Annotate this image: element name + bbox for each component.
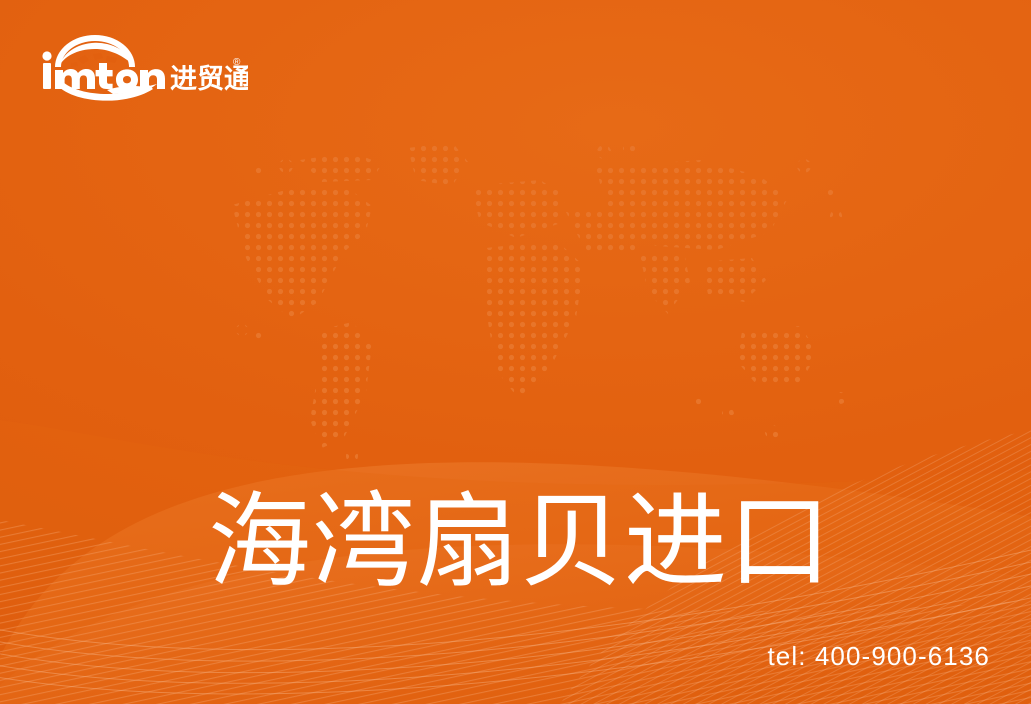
globe-arc-icon: [55, 35, 135, 67]
promo-banner: 进贸通 ® 海湾扇贝进口 清关代理公司 tel: 400-900-6136: [0, 0, 1031, 704]
brand-logo-mark: 进贸通 ®: [33, 27, 248, 105]
brand-logo[interactable]: 进贸通 ®: [33, 27, 248, 105]
brand-chinese-text: 进贸通: [170, 64, 248, 95]
registered-trademark-icon: ®: [233, 57, 241, 68]
page-title-line-1: 海湾扇贝进口: [208, 480, 848, 604]
contact-phone[interactable]: tel: 400-900-6136: [767, 641, 990, 672]
page-title: 海湾扇贝进口 清关代理公司: [208, 232, 848, 704]
